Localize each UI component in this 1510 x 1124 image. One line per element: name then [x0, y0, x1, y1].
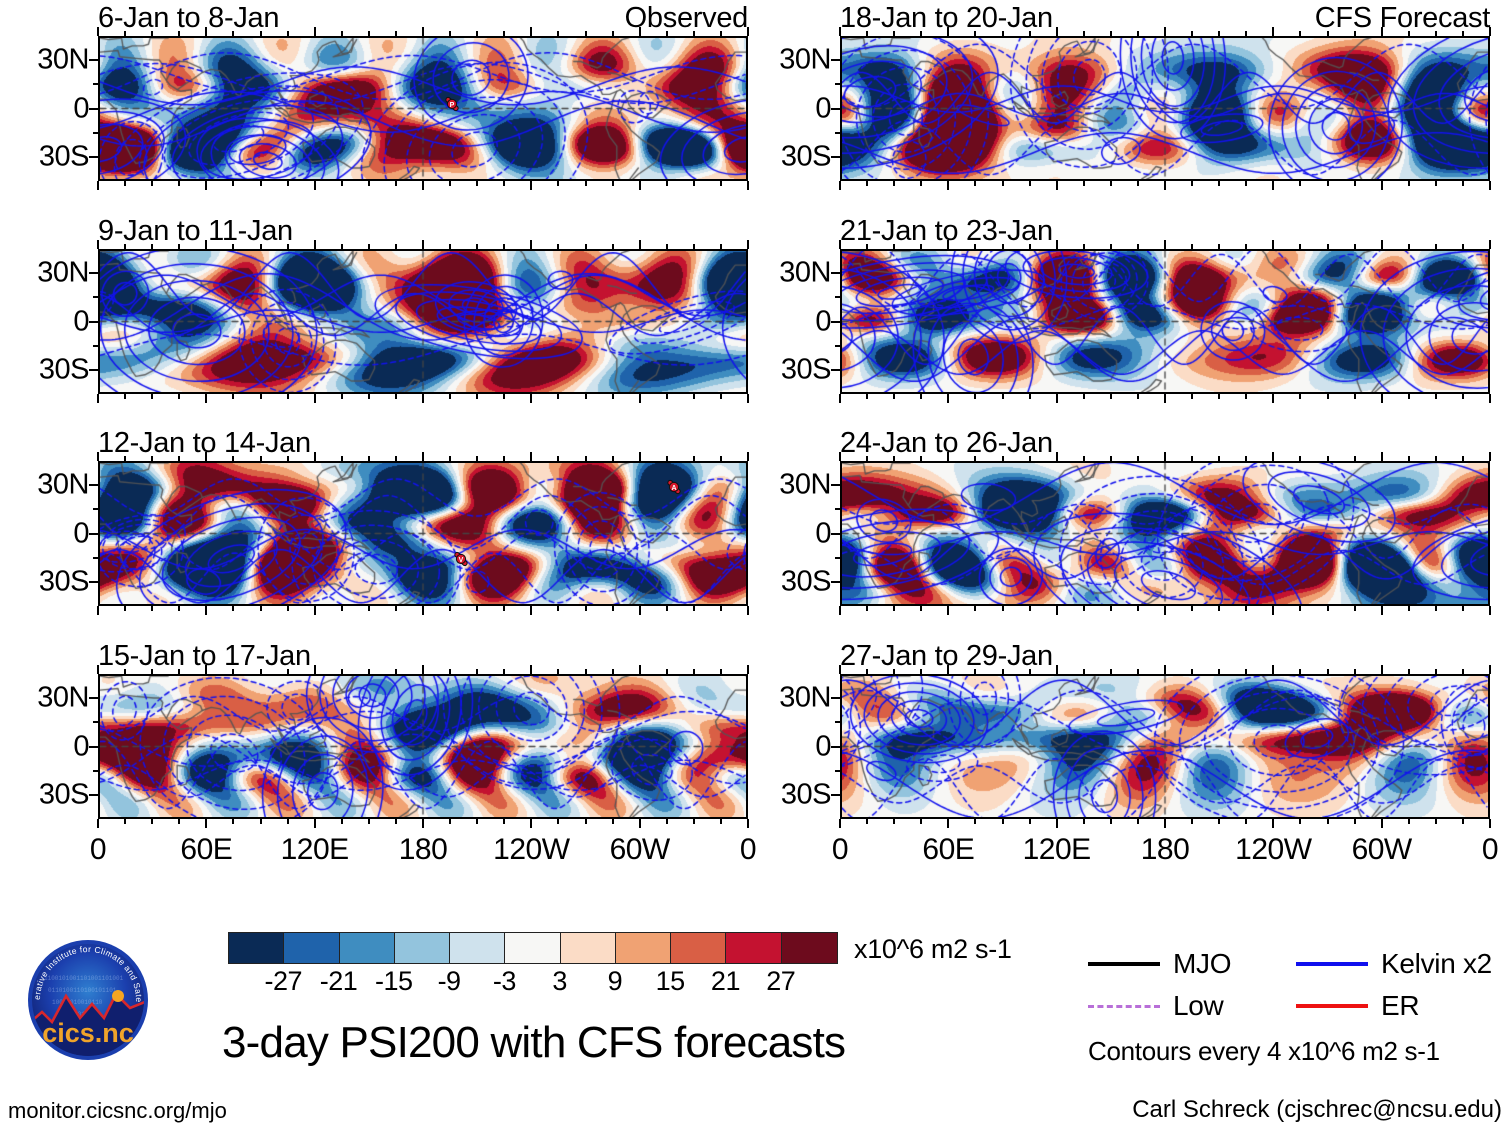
x-tick-p1-top-22	[693, 31, 695, 36]
footer-url[interactable]: monitor.cicsnc.org/mjo	[8, 1098, 227, 1124]
x-tick-p2-bottom-5	[232, 394, 234, 399]
x-tick-p8-bottom-11	[1137, 819, 1139, 824]
x-tick-p8-bottom-23	[1462, 819, 1464, 824]
x-tick-p3-bottom-6	[260, 606, 262, 611]
x-tick-p5-bottom-7	[1029, 181, 1031, 186]
x-tick-p4-top-17	[557, 669, 559, 674]
x-tick-p7-bottom-11	[1137, 606, 1139, 611]
x-tick-p6-bottom-7	[1029, 394, 1031, 399]
x-tick-p3-top-18	[585, 456, 587, 461]
y-tick-label-p7-0: 30N	[779, 469, 831, 502]
svg-text:0110100110100101101: 0110100110100101101	[48, 987, 117, 994]
x-tick-label-right-0: 0	[832, 833, 848, 867]
x-tick-p7-bottom-19	[1354, 606, 1356, 611]
mjo-psi200-figure: 6-Jan to 8-JanObservedP30N030S9-Jan to 1…	[0, 0, 1510, 1121]
x-tick-p6-top-18	[1327, 244, 1329, 249]
x-tick-p3-top-21	[666, 456, 668, 461]
x-tick-p4-bottom-1	[124, 819, 126, 824]
x-tick-p7-bottom-23	[1462, 606, 1464, 611]
x-tick-p2-top-9	[341, 244, 343, 249]
x-tick-p8-top-1	[866, 669, 868, 674]
x-tick-p1-bottom-11	[395, 181, 397, 186]
x-tick-p4-bottom-8	[314, 819, 316, 828]
x-tick-p1-bottom-0	[97, 181, 99, 190]
x-tick-p8-top-21	[1408, 669, 1410, 674]
svg-text:10011010010110: 10011010010110	[52, 999, 103, 1006]
x-tick-p4-top-8	[314, 665, 316, 674]
y-tick-label-p5-2: 30S	[781, 140, 831, 173]
x-tick-p8-bottom-15	[1245, 819, 1247, 824]
x-tick-p5-top-22	[1435, 31, 1437, 36]
x-tick-p3-bottom-11	[395, 606, 397, 611]
x-tick-p7-bottom-10	[1110, 606, 1112, 611]
x-tick-p6-top-23	[1462, 244, 1464, 249]
x-tick-p8-top-5	[974, 669, 976, 674]
x-tick-p4-bottom-18	[585, 819, 587, 824]
x-tick-p6-bottom-11	[1137, 394, 1139, 399]
x-tick-p7-bottom-9	[1083, 606, 1085, 611]
x-tick-p4-top-18	[585, 669, 587, 674]
x-tick-p5-top-8	[1056, 27, 1058, 36]
x-tick-p3-top-5	[232, 456, 234, 461]
svg-text:cics.nc: cics.nc	[42, 1018, 134, 1048]
x-tick-p6-bottom-20	[1381, 394, 1383, 403]
x-tick-p7-top-7	[1029, 456, 1031, 461]
x-tick-p5-top-15	[1245, 31, 1247, 36]
x-tick-p6-top-0	[839, 240, 841, 249]
x-tick-p5-bottom-19	[1354, 181, 1356, 186]
y-minor-tick-p6-5	[835, 369, 840, 371]
x-tick-p5-bottom-21	[1408, 181, 1410, 186]
y-minor-tick-p8-3	[835, 746, 840, 748]
y-minor-tick-p8-1	[835, 697, 840, 699]
x-tick-p5-bottom-20	[1381, 181, 1383, 190]
x-tick-p7-top-20	[1381, 452, 1383, 461]
x-tick-p4-top-2	[151, 669, 153, 674]
x-tick-p1-top-4	[205, 27, 207, 36]
x-tick-p8-bottom-7	[1029, 819, 1031, 824]
x-tick-label-left-2: 120E	[281, 833, 349, 867]
x-tick-p5-top-21	[1408, 31, 1410, 36]
x-tick-p7-top-22	[1435, 456, 1437, 461]
x-tick-p7-bottom-22	[1435, 606, 1437, 611]
x-tick-p1-bottom-23	[720, 181, 722, 186]
x-tick-p5-top-17	[1299, 31, 1301, 36]
x-tick-p4-bottom-0	[97, 819, 99, 828]
x-tick-p4-top-21	[666, 669, 668, 674]
x-tick-p7-top-1	[866, 456, 868, 461]
x-tick-p7-top-3	[920, 456, 922, 461]
map-shading-p8	[842, 676, 1488, 817]
map-panel-p5: 18-Jan to 20-JanCFS Forecast30N030S	[840, 36, 1490, 181]
x-tick-p4-top-5	[232, 669, 234, 674]
x-tick-p1-top-12	[422, 27, 424, 36]
x-tick-p5-top-14	[1218, 31, 1220, 36]
x-tick-p1-bottom-4	[205, 181, 207, 190]
x-tick-p2-bottom-21	[666, 394, 668, 399]
colorbar-segment-3	[395, 933, 450, 963]
x-tick-p1-bottom-1	[124, 181, 126, 186]
x-tick-p5-top-5	[974, 31, 976, 36]
x-tick-p6-top-6	[1002, 244, 1004, 249]
x-tick-p5-bottom-9	[1083, 181, 1085, 186]
x-tick-p1-bottom-15	[503, 181, 505, 186]
colorbar-units: x10^6 m2 s-1	[854, 934, 1012, 965]
x-tick-p5-bottom-12	[1164, 181, 1166, 190]
legend-item-kelvin[interactable]: Kelvin x2	[1296, 948, 1492, 980]
svg-text:A: A	[672, 485, 677, 492]
x-tick-p1-top-17	[557, 31, 559, 36]
x-tick-p4-bottom-21	[666, 819, 668, 824]
x-tick-p2-top-15	[503, 244, 505, 249]
x-tick-label-left-4: 120W	[493, 833, 569, 867]
map-shading-p2	[100, 251, 746, 392]
y-minor-tick-p2-3	[93, 321, 98, 323]
colorbar-segment-10	[782, 933, 837, 963]
map-shading-p4	[100, 676, 746, 817]
x-tick-p7-top-18	[1327, 456, 1329, 461]
x-tick-p6-bottom-4	[947, 394, 949, 403]
y-minor-tick-p2-4	[93, 345, 98, 347]
x-tick-p3-top-10	[368, 456, 370, 461]
x-tick-p3-top-12	[422, 452, 424, 461]
x-tick-p6-top-2	[893, 244, 895, 249]
colorbar-segment-6	[561, 933, 616, 963]
y-tick-label-p3-1: 0	[73, 517, 89, 550]
x-tick-p7-bottom-12	[1164, 606, 1166, 615]
x-tick-p3-top-4	[205, 452, 207, 461]
x-tick-p3-top-23	[720, 456, 722, 461]
x-tick-p8-bottom-20	[1381, 819, 1383, 828]
y-minor-tick-p5-1	[835, 59, 840, 61]
x-tick-p7-top-5	[974, 456, 976, 461]
x-tick-p2-bottom-10	[368, 394, 370, 399]
y-minor-tick-p8-4	[835, 770, 840, 772]
cics-nc-logo[interactable]: 1100101001101001101001011010011010010110…	[18, 930, 158, 1070]
x-tick-p7-bottom-1	[866, 606, 868, 611]
map-shading-p5	[842, 38, 1488, 179]
map-panel-p4: 15-Jan to 17-Jan30N030S	[98, 674, 748, 819]
x-tick-p4-bottom-12	[422, 819, 424, 828]
x-tick-p7-top-8	[1056, 452, 1058, 461]
x-tick-p8-top-4	[947, 665, 949, 674]
x-tick-p2-top-8	[314, 240, 316, 249]
x-tick-p4-top-23	[720, 669, 722, 674]
x-tick-p2-bottom-0	[97, 394, 99, 403]
y-minor-tick-p3-2	[93, 508, 98, 510]
x-tick-label-left-1: 60E	[180, 833, 232, 867]
x-tick-p7-bottom-6	[1002, 606, 1004, 611]
x-tick-p8-bottom-18	[1327, 819, 1329, 824]
y-minor-tick-p5-2	[835, 83, 840, 85]
map-frame-p6	[840, 249, 1490, 394]
legend-item-mjo[interactable]: MJO	[1088, 948, 1231, 980]
x-tick-p8-bottom-22	[1435, 819, 1437, 824]
x-tick-p2-top-13	[449, 244, 451, 249]
x-tick-p4-bottom-22	[693, 819, 695, 824]
x-tick-p2-bottom-19	[612, 394, 614, 399]
x-tick-p7-bottom-0	[839, 606, 841, 615]
x-tick-p6-top-15	[1245, 244, 1247, 249]
x-tick-p8-bottom-10	[1110, 819, 1112, 824]
x-tick-p7-bottom-8	[1056, 606, 1058, 615]
x-tick-p1-top-13	[449, 31, 451, 36]
x-tick-p7-bottom-21	[1408, 606, 1410, 611]
x-tick-p2-top-4	[205, 240, 207, 249]
y-tick-label-p5-1: 0	[815, 92, 831, 125]
y-minor-tick-p1-5	[93, 156, 98, 158]
y-minor-tick-p4-2	[93, 721, 98, 723]
y-tick-label-p8-2: 30S	[781, 778, 831, 811]
x-tick-p5-bottom-10	[1110, 181, 1112, 186]
x-tick-p6-top-4	[947, 240, 949, 249]
contour-legend: MJOKelvin x2LowER	[1088, 948, 1488, 1038]
x-tick-p1-top-23	[720, 31, 722, 36]
x-tick-p3-top-7	[287, 456, 289, 461]
legend-label-kelvin: Kelvin x2	[1381, 948, 1492, 980]
colorbar-tick-label-6: 9	[608, 966, 623, 997]
y-tick-label-p3-0: 30N	[37, 469, 89, 502]
colorbar-segment-0	[229, 933, 284, 963]
x-tick-p5-top-9	[1083, 31, 1085, 36]
x-tick-p7-top-12	[1164, 452, 1166, 461]
x-tick-p5-bottom-4	[947, 181, 949, 190]
x-tick-p4-bottom-15	[503, 819, 505, 824]
x-tick-p6-bottom-5	[974, 394, 976, 399]
x-tick-p7-bottom-15	[1245, 606, 1247, 611]
x-tick-p2-bottom-17	[557, 394, 559, 399]
x-tick-p1-top-11	[395, 31, 397, 36]
map-frame-p2	[98, 249, 748, 394]
x-tick-p2-bottom-8	[314, 394, 316, 403]
x-tick-p4-top-0	[97, 665, 99, 674]
x-tick-p5-top-3	[920, 31, 922, 36]
y-minor-tick-p7-3	[835, 533, 840, 535]
y-tick-label-p1-1: 0	[73, 92, 89, 125]
y-minor-tick-p2-5	[93, 369, 98, 371]
x-tick-p7-top-14	[1218, 456, 1220, 461]
y-minor-tick-p2-1	[93, 272, 98, 274]
x-tick-p7-top-4	[947, 452, 949, 461]
x-tick-p3-bottom-17	[557, 606, 559, 611]
x-tick-p3-bottom-18	[585, 606, 587, 611]
x-tick-p2-top-3	[178, 244, 180, 249]
x-tick-p2-top-21	[666, 244, 668, 249]
colorbar-segment-7	[616, 933, 671, 963]
x-tick-p2-top-2	[151, 244, 153, 249]
x-tick-p3-bottom-1	[124, 606, 126, 611]
x-tick-p8-bottom-2	[893, 819, 895, 824]
x-tick-p6-bottom-0	[839, 394, 841, 403]
x-tick-p8-bottom-14	[1218, 819, 1220, 824]
x-tick-p8-bottom-4	[947, 819, 949, 828]
legend-item-er[interactable]: ER	[1296, 990, 1419, 1022]
y-tick-label-p6-2: 30S	[781, 353, 831, 386]
x-tick-p8-top-7	[1029, 669, 1031, 674]
x-tick-p6-top-24	[1489, 240, 1491, 249]
x-tick-p4-bottom-6	[260, 819, 262, 824]
panel-title-p2: 9-Jan to 11-Jan	[98, 215, 293, 248]
x-tick-p6-top-16	[1272, 240, 1274, 249]
x-tick-p4-bottom-14	[476, 819, 478, 824]
x-tick-p4-top-11	[395, 669, 397, 674]
legend-item-low[interactable]: Low	[1088, 990, 1223, 1022]
x-tick-p8-top-3	[920, 669, 922, 674]
colorbar-tick-label-9: 27	[766, 966, 795, 997]
x-tick-p6-top-8	[1056, 240, 1058, 249]
colorbar-gradient	[228, 932, 838, 964]
x-tick-p7-top-13	[1191, 456, 1193, 461]
x-tick-p7-bottom-4	[947, 606, 949, 615]
x-tick-p4-bottom-2	[151, 819, 153, 824]
x-tick-p6-bottom-9	[1083, 394, 1085, 399]
x-tick-p6-bottom-19	[1354, 394, 1356, 399]
x-tick-p3-bottom-15	[503, 606, 505, 611]
map-frame-p5	[840, 36, 1490, 181]
x-tick-p2-bottom-6	[260, 394, 262, 399]
colorbar-tick-label-3: -9	[438, 966, 461, 997]
x-tick-p6-bottom-12	[1164, 394, 1166, 403]
x-tick-p8-bottom-24	[1489, 819, 1491, 828]
x-tick-p1-top-8	[314, 27, 316, 36]
x-tick-p4-top-24	[747, 665, 749, 674]
x-tick-p6-top-11	[1137, 244, 1139, 249]
x-tick-p8-bottom-5	[974, 819, 976, 824]
x-tick-p8-top-8	[1056, 665, 1058, 674]
y-tick-label-p8-0: 30N	[779, 682, 831, 715]
x-tick-p8-top-13	[1191, 669, 1193, 674]
colorbar-segment-4	[450, 933, 505, 963]
x-tick-p7-bottom-17	[1299, 606, 1301, 611]
x-tick-p5-bottom-13	[1191, 181, 1193, 186]
x-tick-p4-top-6	[260, 669, 262, 674]
x-tick-p2-top-1	[124, 244, 126, 249]
x-tick-p4-top-3	[178, 669, 180, 674]
colorbar-segment-2	[340, 933, 395, 963]
x-tick-p1-bottom-5	[232, 181, 234, 186]
map-frame-p1: P	[98, 36, 748, 181]
x-tick-p6-bottom-8	[1056, 394, 1058, 403]
x-tick-p6-bottom-23	[1462, 394, 1464, 399]
x-axis-left: 060E120E180120W60W0	[98, 833, 748, 873]
x-tick-p2-bottom-7	[287, 394, 289, 399]
x-tick-p1-bottom-16	[530, 181, 532, 190]
x-tick-p1-bottom-12	[422, 181, 424, 190]
colorbar-segment-1	[284, 933, 339, 963]
x-tick-p3-bottom-9	[341, 606, 343, 611]
x-tick-p8-bottom-17	[1299, 819, 1301, 824]
x-tick-p1-bottom-22	[693, 181, 695, 186]
x-tick-p4-bottom-16	[530, 819, 532, 828]
x-tick-p2-top-5	[232, 244, 234, 249]
x-tick-p2-bottom-4	[205, 394, 207, 403]
x-tick-p5-bottom-24	[1489, 181, 1491, 190]
panel-column-header-left: Observed	[625, 2, 748, 35]
x-tick-p5-top-19	[1354, 31, 1356, 36]
x-tick-p4-top-20	[639, 665, 641, 674]
x-tick-p1-top-2	[151, 31, 153, 36]
x-tick-p7-top-6	[1002, 456, 1004, 461]
x-tick-p3-bottom-24	[747, 606, 749, 615]
x-tick-p1-top-6	[260, 31, 262, 36]
x-tick-p7-bottom-20	[1381, 606, 1383, 615]
x-tick-p7-bottom-7	[1029, 606, 1031, 611]
y-minor-tick-p4-1	[93, 697, 98, 699]
y-tick-label-p4-1: 0	[73, 730, 89, 763]
x-tick-p2-bottom-1	[124, 394, 126, 399]
x-tick-p2-top-6	[260, 244, 262, 249]
x-tick-p4-bottom-5	[232, 819, 234, 824]
x-tick-p3-top-6	[260, 456, 262, 461]
y-minor-tick-p8-2	[835, 721, 840, 723]
x-tick-p8-top-10	[1110, 669, 1112, 674]
x-tick-p8-top-6	[1002, 669, 1004, 674]
map-panel-p2: 9-Jan to 11-Jan30N030S	[98, 249, 748, 394]
colorbar-tick-label-8: 21	[711, 966, 740, 997]
x-tick-p6-top-20	[1381, 240, 1383, 249]
x-tick-p8-top-2	[893, 669, 895, 674]
x-tick-p6-bottom-14	[1218, 394, 1220, 399]
x-tick-p7-top-2	[893, 456, 895, 461]
x-tick-p2-bottom-15	[503, 394, 505, 399]
y-tick-label-p2-2: 30S	[39, 353, 89, 386]
colorbar-segment-9	[726, 933, 781, 963]
x-tick-p7-top-9	[1083, 456, 1085, 461]
x-tick-p1-bottom-21	[666, 181, 668, 186]
x-tick-label-right-4: 120W	[1235, 833, 1311, 867]
x-tick-p8-bottom-16	[1272, 819, 1274, 828]
x-tick-p5-bottom-22	[1435, 181, 1437, 186]
storm-marker-p: P	[443, 93, 461, 115]
x-tick-p2-top-19	[612, 244, 614, 249]
x-tick-p1-bottom-18	[585, 181, 587, 186]
x-tick-p3-top-8	[314, 452, 316, 461]
x-tick-p5-bottom-17	[1299, 181, 1301, 186]
x-tick-p7-bottom-24	[1489, 606, 1491, 615]
x-tick-p1-bottom-2	[151, 181, 153, 186]
x-tick-p1-top-7	[287, 31, 289, 36]
x-tick-p2-top-12	[422, 240, 424, 249]
x-tick-p1-top-1	[124, 31, 126, 36]
x-tick-p5-bottom-1	[866, 181, 868, 186]
x-tick-p8-top-17	[1299, 669, 1301, 674]
x-tick-p7-bottom-14	[1218, 606, 1220, 611]
x-tick-p5-bottom-18	[1327, 181, 1329, 186]
x-tick-p3-bottom-12	[422, 606, 424, 615]
y-tick-label-p7-2: 30S	[781, 565, 831, 598]
x-tick-p7-top-24	[1489, 452, 1491, 461]
x-tick-p4-bottom-3	[178, 819, 180, 824]
x-tick-p5-bottom-3	[920, 181, 922, 186]
x-tick-p6-top-17	[1299, 244, 1301, 249]
y-tick-label-p2-1: 0	[73, 305, 89, 338]
x-tick-p7-bottom-16	[1272, 606, 1274, 615]
y-minor-tick-p7-4	[835, 557, 840, 559]
storm-marker-v: V	[452, 548, 470, 570]
contour-interval-note: Contours every 4 x10^6 m2 s-1	[1088, 1036, 1440, 1067]
x-tick-p3-bottom-22	[693, 606, 695, 611]
x-tick-p5-bottom-2	[893, 181, 895, 186]
x-tick-p3-bottom-5	[232, 606, 234, 611]
x-tick-p4-top-7	[287, 669, 289, 674]
legend-label-low: Low	[1173, 990, 1223, 1022]
x-tick-p5-top-2	[893, 31, 895, 36]
x-tick-p3-bottom-20	[639, 606, 641, 615]
x-tick-p8-top-15	[1245, 669, 1247, 674]
colorbar: -27-21-15-9-339152127x10^6 m2 s-1	[228, 932, 836, 962]
x-tick-p5-top-23	[1462, 31, 1464, 36]
x-tick-p3-top-2	[151, 456, 153, 461]
